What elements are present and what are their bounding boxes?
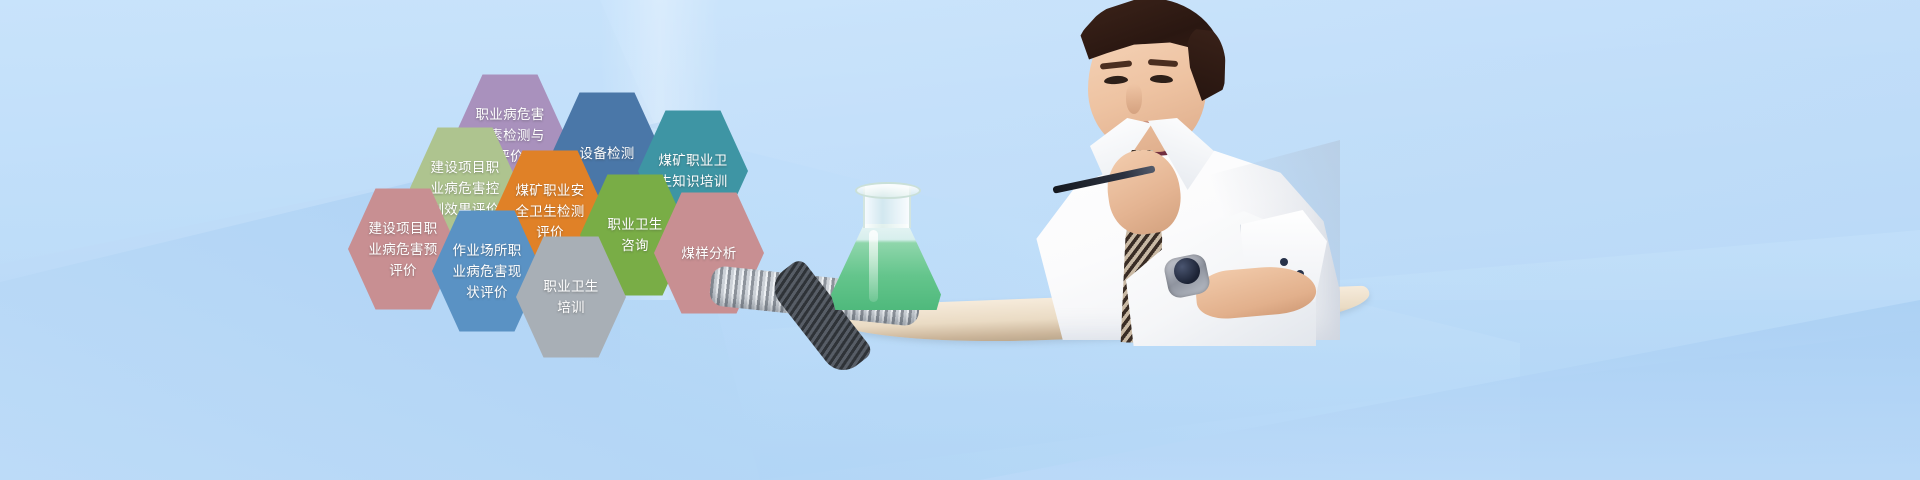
hexagon-label: 职业卫生咨询 — [607, 214, 662, 256]
hexagon-label: 职业卫生培训 — [543, 276, 598, 318]
hexagon-label: 建设项目职业病危害控制效果评价 — [431, 157, 500, 220]
nose — [1126, 84, 1142, 114]
hexagon-label: 作业场所职业病危害现状评价 — [453, 240, 522, 303]
hexagon-label: 煤样分析 — [681, 243, 736, 264]
cuff-button-1 — [1280, 258, 1288, 266]
flask-lip — [855, 182, 921, 199]
erlenmeyer-flask — [825, 186, 947, 308]
hexagon-label: 煤矿职业卫生知识培训 — [659, 150, 728, 192]
person-photo — [940, 0, 1500, 480]
flask-body — [831, 224, 941, 310]
banner: 职业病危害因素检测与评价设备检测煤矿职业卫生知识培训建设项目职业病危害控制效果评… — [0, 0, 1920, 480]
hexagon-label: 设备检测 — [579, 143, 634, 164]
flask-highlight — [869, 230, 878, 302]
hexagon-label: 建设项目职业病危害预评价 — [369, 218, 438, 281]
hexagon-label: 煤矿职业安全卫生检测评价 — [516, 180, 585, 243]
hexagon-cluster: 职业病危害因素检测与评价设备检测煤矿职业卫生知识培训建设项目职业病危害控制效果评… — [0, 0, 820, 400]
